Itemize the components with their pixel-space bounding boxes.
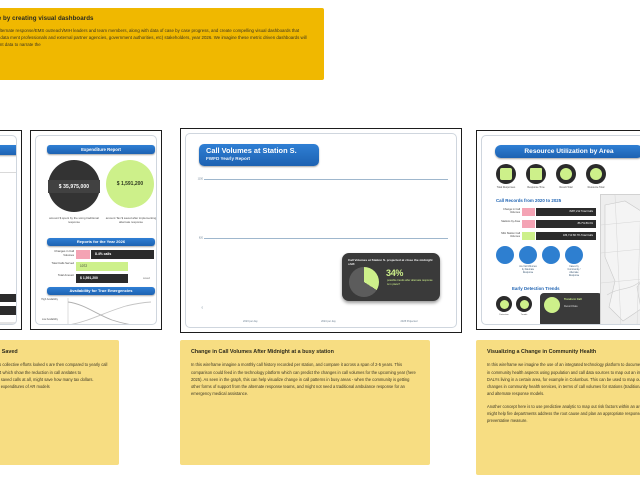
avatar-icon <box>565 246 583 264</box>
metric-label: Total Amount <box>47 274 74 278</box>
metric-label: Changes in Call Volumes <box>47 250 74 258</box>
metric-value: 8.4% calls <box>91 250 154 259</box>
call-volumes-plot: 11506200 2023 per day2024 per day2025 Pr… <box>204 174 448 309</box>
slide-call-volumes-inner: Call Volumes at Station S. FWFD Yearly R… <box>185 133 457 328</box>
chart-x-label: 2023 per day <box>243 320 258 323</box>
result-total-icon <box>556 164 576 184</box>
slide-call-volumes[interactable]: Call Volumes at Station S. FWFD Yearly R… <box>180 128 462 333</box>
slide-partial-cutoff[interactable] <box>0 130 22 330</box>
metric-trail: saved <box>143 274 150 283</box>
responses-icon <box>496 164 516 184</box>
metric-label: Total Calls Served <box>47 262 74 266</box>
avatar-icon <box>542 246 560 264</box>
expenditure-subheading: Reports for the Year 2026 <box>47 238 155 246</box>
call-volumes-callout[interactable]: Call Volumes at Station S. projected at … <box>342 253 440 301</box>
caption-right-body-2: Another concept here is to use predictiv… <box>487 403 640 424</box>
resource-title: Resource Utilization by Area <box>495 145 640 158</box>
partial-block-3 <box>0 306 17 315</box>
call-volumes-title-pill: Call Volumes at Station S. FWFD Yearly R… <box>199 144 319 166</box>
trends-icon <box>516 296 532 312</box>
expenditure-title: Expenditure Report <box>47 145 155 154</box>
resource-metric-value: 86.7% 89.1% <box>536 220 596 228</box>
trend-card-line-1: Trends in Call <box>564 298 582 302</box>
expenditure-caption-traditional: amount $ spent by the using traditional … <box>46 216 102 225</box>
availability-line-chart: High Availability Low Availability 2023 … <box>60 298 152 325</box>
trend-card[interactable]: Trends in Call Record Data <box>540 293 602 325</box>
expenditure-amount-traditional: $ 35,975,000 <box>59 184 89 190</box>
trend-icon-item: Trends <box>516 296 532 316</box>
resource-stat-icon: Total Responses <box>496 164 516 190</box>
resource-icon-row: Total Responses Response Time Result Tot… <box>496 164 640 190</box>
resource-stat-icon: Result Total <box>556 164 576 190</box>
avatar-caption: Are Call Volumes by Alternate Response <box>519 266 537 275</box>
resource-metric-label: Change in Call Volumes <box>496 208 520 215</box>
chart-x-label: 2025 Projected <box>401 320 418 323</box>
chart-y-tick: 620 <box>199 237 203 240</box>
caption-middle-body: In this wireframe imagine a monthly call… <box>191 361 419 396</box>
metric-chip <box>76 250 90 259</box>
expenditure-metric-row: Total Calls Served 1072 <box>47 262 155 271</box>
expenditure-circle-dark-band: $ 35,975,000 <box>48 180 100 193</box>
resource-metric-label: Stations by Area <box>496 220 520 223</box>
resource-subheading: Call Records from 2020 to 2025 <box>496 198 561 203</box>
expenditure-metric-row: Total Amount $ 1,591,200 saved <box>47 274 155 283</box>
slide-resource-utilization[interactable]: Resource Utilization by Area Total Respo… <box>476 130 640 330</box>
response-time-icon <box>526 164 546 184</box>
expenditure-circle-traditional: $ 35,975,000 <box>48 160 100 212</box>
caption-right-body-1: In this wireframe we imagine the use of … <box>487 361 640 396</box>
trend-card-icon <box>544 297 560 313</box>
trend-icon-item: Detection <box>496 296 512 316</box>
resource-metric-row: MIH Station Call Volumes 186,713 86.7% T… <box>496 232 596 240</box>
metric-value: 1072 <box>76 262 128 271</box>
banner-body: logy module for alternate response/EMS o… <box>0 27 312 48</box>
callout-title: Call Volumes at Station S. projected at … <box>348 258 434 267</box>
expenditure-caption-saved: amount Tax $ saved after implementing al… <box>104 216 157 225</box>
caption-card-left[interactable]: to Tax Dollars Saved nd partner agencies… <box>0 340 119 465</box>
resource-icon-label: Result Total <box>556 186 576 190</box>
partial-divider <box>0 172 17 173</box>
slide-partial-inner <box>0 135 17 325</box>
resource-metric-chip <box>522 208 535 216</box>
resource-total-icon <box>586 164 606 184</box>
chart-y-tick: 0 <box>202 307 203 310</box>
resource-stat-icon: Resource Total <box>586 164 606 190</box>
resource-metric-chip <box>522 232 535 240</box>
chart-x-label: 2024 per day <box>321 320 336 323</box>
avatar-item <box>496 246 514 278</box>
area-map-svg <box>601 195 640 325</box>
avatar-item <box>542 246 560 278</box>
resource-metric-chip <box>522 220 535 228</box>
avatar-caption: Cases by Community / Alternate Response <box>565 266 583 278</box>
whiteboard-canvas: e Response by creating visual dashboards… <box>0 0 640 480</box>
expenditure-amount-saved: $ 1,591,200 <box>117 181 143 187</box>
trend-card-line-2: Record Data <box>564 305 577 309</box>
availability-y-top: High Availability <box>38 298 58 301</box>
call-volumes-subtitle: FWFD Yearly Report <box>206 156 319 162</box>
slide-expenditure-report[interactable]: Expenditure Report $ 35,975,000 $ 1,591,… <box>30 130 162 330</box>
avatar-icon <box>496 246 514 264</box>
availability-chart-svg <box>60 298 152 325</box>
banner-card[interactable]: e Response by creating visual dashboards… <box>0 8 324 80</box>
detection-icon <box>496 296 512 312</box>
partial-block-4 <box>0 322 17 325</box>
slide-resource-inner: Resource Utilization by Area Total Respo… <box>481 135 640 325</box>
callout-percent: 34% <box>386 269 403 278</box>
resource-metric-label: MIH Station Call Volumes <box>496 232 520 239</box>
chart-gridline: 1150 <box>204 179 448 180</box>
banner-title: e Response by creating visual dashboards <box>0 16 312 23</box>
resource-icon-label: Total Responses <box>496 186 516 190</box>
callout-pie-chart <box>349 267 379 297</box>
metric-value: $ 1,591,200 <box>76 274 128 283</box>
caption-middle-title: Change in Call Volumes After Midnight at… <box>191 349 419 355</box>
avatar-icon <box>519 246 537 264</box>
resource-icon-label: Response Time <box>526 186 546 190</box>
expenditure-metric-row: Changes in Call Volumes 8.4% calls <box>47 250 155 259</box>
avatar-item: Cases by Community / Alternate Response <box>565 246 583 278</box>
avatar-item: Are Call Volumes by Alternate Response <box>519 246 537 278</box>
area-map[interactable] <box>600 194 640 325</box>
caption-card-middle[interactable]: Change in Call Volumes After Midnight at… <box>180 340 430 465</box>
expenditure-subheading-2: Availability for True Emergencies <box>47 287 155 295</box>
expenditure-circle-saved: $ 1,591,200 <box>106 160 154 208</box>
caption-card-right[interactable]: Visualizing a Change in Community Health… <box>476 340 640 475</box>
callout-description: possible trends after alternate response… <box>387 279 435 287</box>
slide-expenditure-inner: Expenditure Report $ 35,975,000 $ 1,591,… <box>35 135 157 325</box>
resource-metric-value: 186,713 86.7% Total Calls <box>536 232 596 240</box>
partial-block-2 <box>0 294 17 302</box>
caption-left-title: to Tax Dollars Saved <box>0 349 108 355</box>
chart-y-tick: 1150 <box>198 177 203 180</box>
trend-icon-label: Trends <box>516 314 532 317</box>
resource-subheading-2: Early Detection Trends <box>512 286 560 291</box>
caption-left-body: nd partner agencies collective efforts l… <box>0 361 108 389</box>
resource-icon-label: Resource Total <box>586 186 606 190</box>
resource-metric-value: 8287,212 Total Calls <box>536 208 596 216</box>
chart-gridline: 620 <box>204 238 448 239</box>
availability-y-bottom: Low Availability <box>38 318 58 321</box>
partial-title-pill <box>0 145 17 155</box>
resource-stat-icon: Response Time <box>526 164 546 190</box>
resource-metric-row: Stations by Area 86.7% 89.1% <box>496 220 596 228</box>
chart-axis-zero: 0 <box>204 308 448 309</box>
call-volumes-title: Call Volumes at Station S. <box>206 147 319 156</box>
caption-right-title: Visualizing a Change in Community Health <box>487 349 640 355</box>
resource-metric-row: Change in Call Volumes 8287,212 Total Ca… <box>496 208 596 216</box>
resource-avatar-row: Are Call Volumes by Alternate Response C… <box>496 246 606 278</box>
trend-icon-label: Detection <box>496 314 512 317</box>
